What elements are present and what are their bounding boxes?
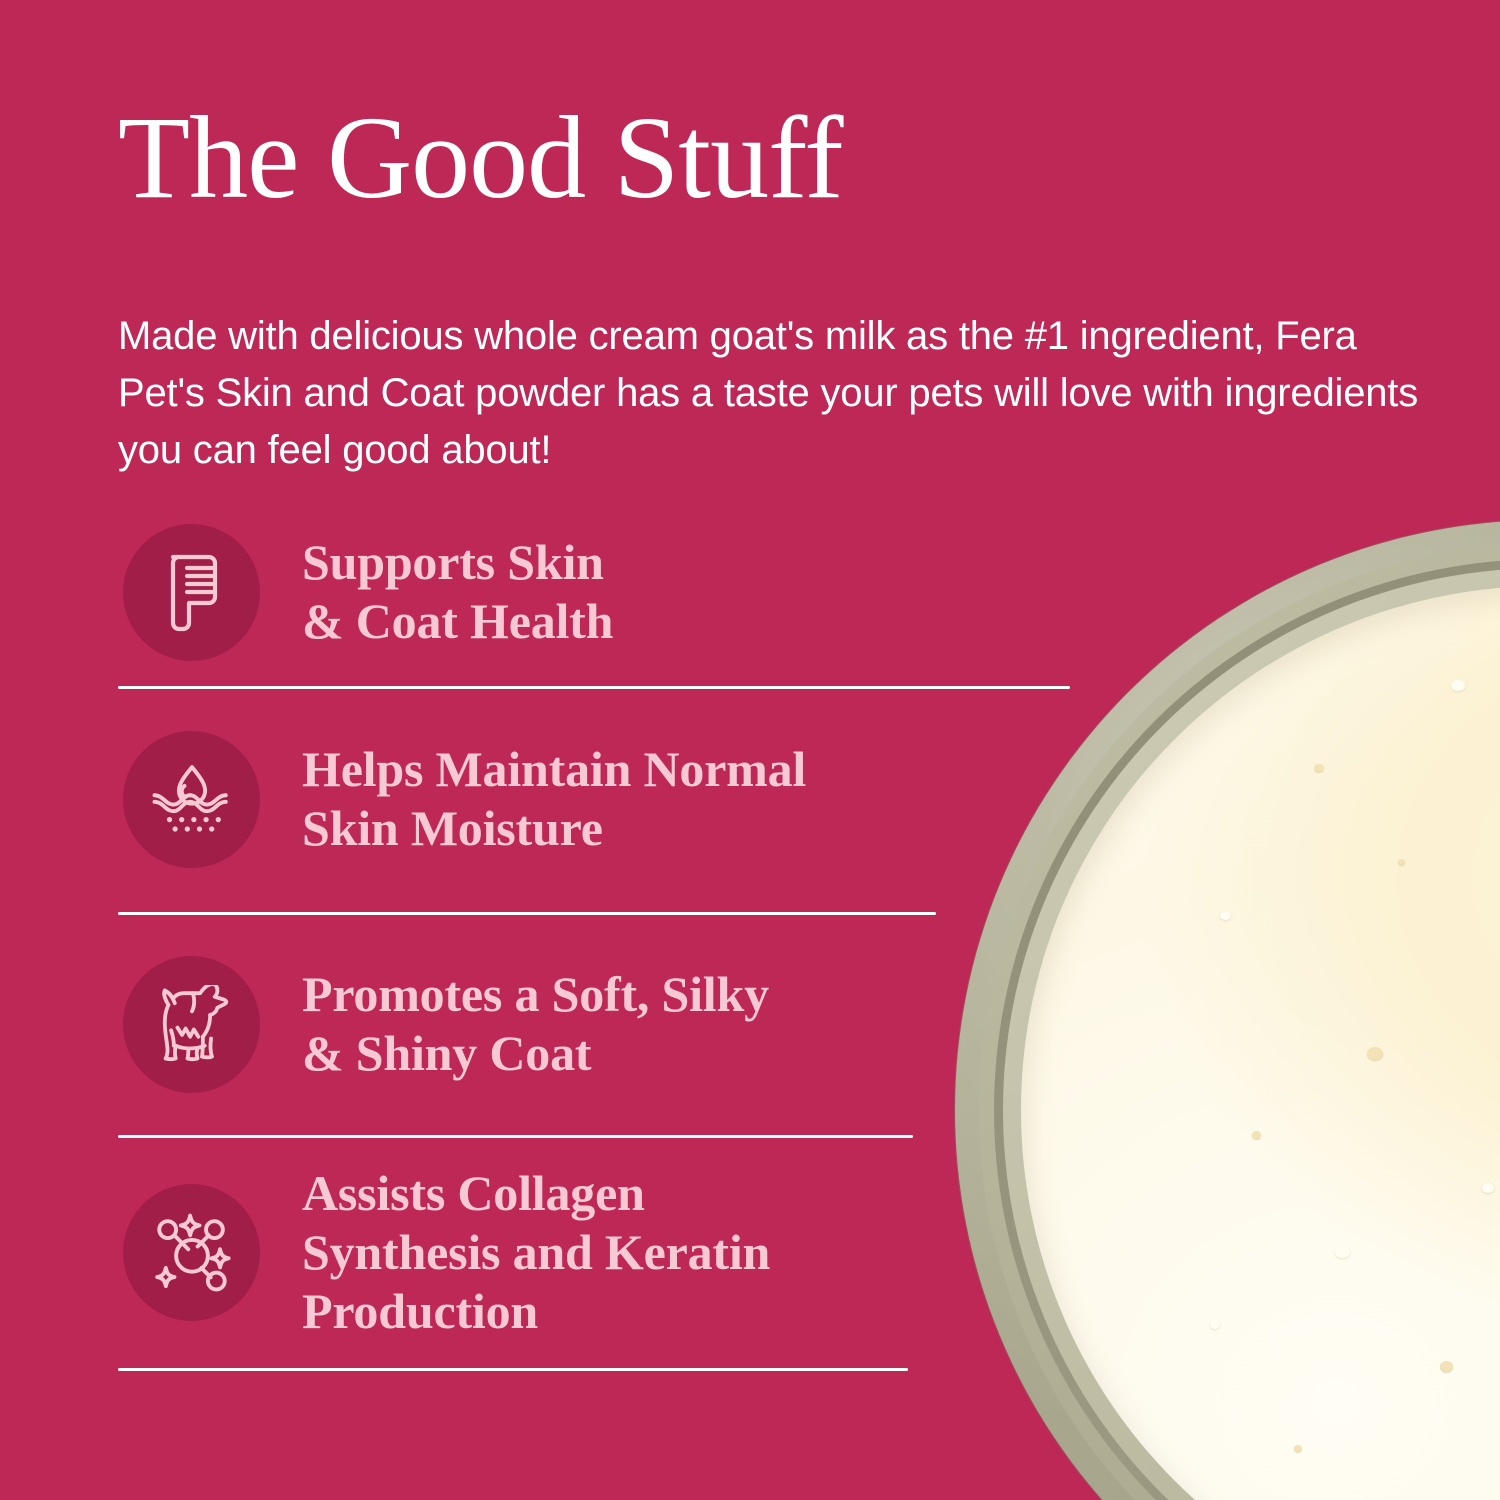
- skin-hydration-droplet-icon: [147, 761, 237, 837]
- molecule-sparkle-icon: [149, 1210, 235, 1296]
- list-item-label: Assists Collagen Synthesis and Keratin P…: [302, 1164, 770, 1341]
- list-divider: [118, 1368, 908, 1371]
- list-item: Promotes a Soft, Silky & Shiny Coat: [118, 912, 1078, 1136]
- dog-icon: [148, 985, 236, 1063]
- list-divider: [118, 912, 936, 915]
- dog-icon-badge: [123, 956, 260, 1093]
- list-item-label: Helps Maintain Normal Skin Moisture: [302, 740, 806, 858]
- list-item-label: Supports Skin & Coat Health: [302, 533, 613, 651]
- list-item-label: Promotes a Soft, Silky & Shiny Coat: [302, 965, 769, 1083]
- skin-hydration-droplet-icon-badge: [123, 731, 260, 868]
- molecule-sparkle-icon-badge: [123, 1184, 260, 1321]
- intro-paragraph: Made with delicious whole cream goat's m…: [118, 308, 1418, 478]
- list-item: Helps Maintain Normal Skin Moisture: [118, 686, 1078, 912]
- list-item: Assists Collagen Synthesis and Keratin P…: [118, 1136, 1078, 1369]
- jar-powder-surface: [1021, 586, 1500, 1500]
- benefits-list: Supports Skin & Coat Health: [118, 498, 1078, 1369]
- list-divider: [118, 1135, 913, 1138]
- page-title: The Good Stuff: [118, 96, 1238, 220]
- comb-icon-badge: [123, 524, 260, 661]
- list-item: Supports Skin & Coat Health: [118, 498, 1078, 686]
- product-benefits-graphic: The Good Stuff Made with delicious whole…: [0, 0, 1500, 1500]
- comb-icon: [156, 549, 228, 635]
- list-divider: [118, 686, 1070, 689]
